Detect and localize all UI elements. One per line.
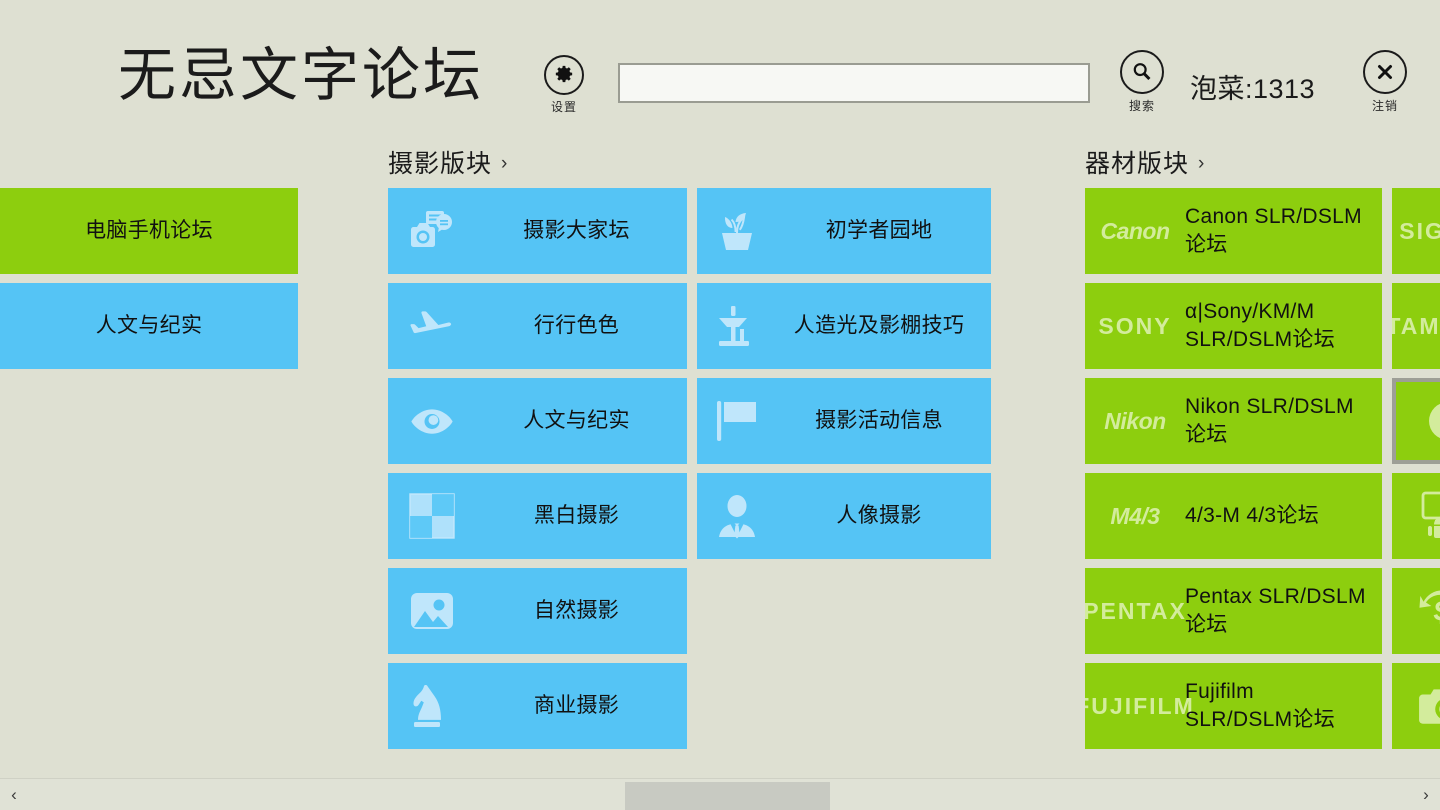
column-photography-b: 初学者园地人造光及影棚技巧摄影活动信息人像摄影 <box>697 140 991 568</box>
tile-label: Pentax SLR/DSLM论坛 <box>1185 583 1382 639</box>
tile-label: 摄影大家坛 <box>476 217 687 245</box>
search-label: 搜索 <box>1105 99 1179 113</box>
tile-list-gear-b: SIGMATAMRON <box>1392 188 1440 749</box>
canon-wordmark: Canon <box>1085 218 1185 245</box>
airplane-icon <box>388 303 476 349</box>
column-photography-heading[interactable]: 摄影版块 › <box>388 140 687 188</box>
four-thirds-wordmark: M4/3 <box>1085 503 1185 530</box>
column-gear-heading-label: 器材版块 <box>1085 149 1189 179</box>
sony-wordmark: SONY <box>1085 313 1185 340</box>
tile-left-1[interactable]: 人文与纪实 <box>0 283 298 369</box>
camera-chat-icon <box>388 207 476 255</box>
tile-gear-a-4[interactable]: PENTAXPentax SLR/DSLM论坛 <box>1085 568 1382 654</box>
tile-gear-a-0[interactable]: CanonCanon SLR/DSLM论坛 <box>1085 188 1382 274</box>
tile-label: 人文与纪实 <box>476 407 687 435</box>
tile-label: 行行色色 <box>476 312 687 340</box>
app-root: 无忌文字论坛 设置 搜索 泡菜:1313 <box>0 0 1440 810</box>
settings-label: 设置 <box>527 100 601 114</box>
tile-gear-b-3[interactable] <box>1392 473 1440 559</box>
tile-gear-b-1[interactable]: TAMRON <box>1392 283 1440 369</box>
fujifilm-wordmark: FUJIFILM <box>1085 693 1185 720</box>
tile-label: 商业摄影 <box>476 692 687 720</box>
camera-icon <box>1392 681 1440 731</box>
tile-photo-b-3[interactable]: 人像摄影 <box>697 473 991 559</box>
tile-gear-a-5[interactable]: FUJIFILMFujifilm SLR/DSLM论坛 <box>1085 663 1382 749</box>
potted-plant-icon <box>697 207 777 255</box>
pentax-wordmark: PENTAX <box>1085 598 1187 625</box>
tile-gear-a-1[interactable]: SONYα|Sony/KM/M SLR/DSLM论坛 <box>1085 283 1382 369</box>
sigma-wordmark: SIGMA <box>1392 218 1440 245</box>
chevron-right-icon: › <box>1198 149 1205 179</box>
fujifilm-wordmark: FUJIFILM <box>1085 693 1195 720</box>
scroll-left-arrow[interactable]: ‹ <box>0 785 28 805</box>
pentax-wordmark: PENTAX <box>1085 598 1185 625</box>
nikon-wordmark: Nikon <box>1085 408 1185 435</box>
tile-gear-b-4[interactable] <box>1392 568 1440 654</box>
tile-photo-a-1[interactable]: 行行色色 <box>388 283 687 369</box>
column-gear-b: SIGMATAMRON <box>1392 140 1440 758</box>
close-x-icon <box>1363 50 1407 94</box>
tile-label: 人造光及影棚技巧 <box>777 312 991 340</box>
logout-button[interactable]: 注销 <box>1348 50 1422 113</box>
chess-knight-icon <box>388 682 476 730</box>
column-gear-a: 器材版块 › CanonCanon SLR/DSLM论坛SONYα|Sony/K… <box>1085 140 1382 758</box>
sony-wordmark: SONY <box>1098 313 1171 340</box>
tile-label: α|Sony/KM/M SLR/DSLM论坛 <box>1185 298 1382 354</box>
tile-gear-a-2[interactable]: NikonNikon SLR/DSLM论坛 <box>1085 378 1382 464</box>
tile-list-left: 电脑手机论坛人文与纪实 <box>0 188 298 369</box>
search-button[interactable]: 搜索 <box>1105 50 1179 113</box>
nikon-wordmark: Nikon <box>1104 408 1165 435</box>
tile-left-0[interactable]: 电脑手机论坛 <box>0 188 298 274</box>
tile-gear-a-3[interactable]: M4/34/3-M 4/3论坛 <box>1085 473 1382 559</box>
tile-label: 黑白摄影 <box>476 502 687 530</box>
scroll-right-arrow[interactable]: › <box>1412 785 1440 805</box>
tile-photo-a-0[interactable]: 摄影大家坛 <box>388 188 687 274</box>
tile-label: 4/3-M 4/3论坛 <box>1185 502 1382 530</box>
sigma-wordmark: SIGMA <box>1399 218 1440 245</box>
column-photography-a: 摄影版块 › 摄影大家坛行行色色人文与纪实黑白摄影自然摄影商业摄影 <box>388 140 687 758</box>
tile-label: 自然摄影 <box>476 597 687 625</box>
tile-label: 人像摄影 <box>777 502 991 530</box>
tile-photo-a-2[interactable]: 人文与纪实 <box>388 378 687 464</box>
tamron-wordmark: TAMRON <box>1392 313 1440 340</box>
logout-label: 注销 <box>1348 99 1422 113</box>
music-disc-icon <box>1392 397 1440 445</box>
tile-label: 初学者园地 <box>777 217 991 245</box>
page-title: 无忌文字论坛 <box>118 42 484 110</box>
scrollbar-thumb[interactable] <box>625 782 830 810</box>
chevron-right-icon: › <box>501 149 508 179</box>
scrollbar-track[interactable] <box>28 779 1412 810</box>
column-photography-heading-label: 摄影版块 <box>388 149 492 179</box>
tile-gear-b-2[interactable] <box>1392 378 1440 464</box>
person-portrait-icon <box>697 492 777 540</box>
tamron-wordmark: TAMRON <box>1392 313 1440 340</box>
tile-label: Nikon SLR/DSLM论坛 <box>1185 393 1382 449</box>
tile-photo-b-1[interactable]: 人造光及影棚技巧 <box>697 283 991 369</box>
board-columns: 电脑手机论坛人文与纪实 摄影版块 › 摄影大家坛行行色色人文与纪实黑白摄影自然摄… <box>0 140 1440 780</box>
landscape-photo-icon <box>388 587 476 635</box>
tile-list-photography-b: 初学者园地人造光及影棚技巧摄影活动信息人像摄影 <box>697 188 991 559</box>
tile-list-photography-a: 摄影大家坛行行色色人文与纪实黑白摄影自然摄影商业摄影 <box>388 188 687 749</box>
tv-apple-android-icon <box>0 206 10 256</box>
header: 无忌文字论坛 设置 搜索 泡菜:1313 <box>0 0 1440 140</box>
eye-icon <box>388 399 476 444</box>
tile-label: 摄影活动信息 <box>777 407 991 435</box>
tile-gear-b-0[interactable]: SIGMA <box>1392 188 1440 274</box>
tile-label: Fujifilm SLR/DSLM论坛 <box>1185 678 1382 734</box>
eye-icon <box>0 304 10 349</box>
tile-label: 人文与纪实 <box>10 312 298 340</box>
dollar-refresh-icon <box>1392 585 1440 637</box>
tile-photo-a-4[interactable]: 自然摄影 <box>388 568 687 654</box>
search-input[interactable] <box>618 63 1090 103</box>
tile-label: Canon SLR/DSLM论坛 <box>1185 203 1382 259</box>
tile-photo-b-2[interactable]: 摄影活动信息 <box>697 378 991 464</box>
tile-gear-b-5[interactable] <box>1392 663 1440 749</box>
tv-android-icon <box>1392 490 1440 542</box>
column-left: 电脑手机论坛人文与纪实 <box>0 140 298 378</box>
tile-label: 电脑手机论坛 <box>10 217 298 245</box>
microscope-icon <box>697 302 777 350</box>
user-name: 泡菜:1313 <box>1190 67 1315 106</box>
search-icon <box>1120 50 1164 94</box>
gear-icon <box>544 55 584 95</box>
column-gear-heading[interactable]: 器材版块 › <box>1085 140 1382 188</box>
horizontal-scrollbar[interactable]: ‹ › <box>0 778 1440 810</box>
tile-list-gear-a: CanonCanon SLR/DSLM论坛SONYα|Sony/KM/M SLR… <box>1085 188 1382 749</box>
tile-photo-b-0[interactable]: 初学者园地 <box>697 188 991 274</box>
tile-photo-a-3[interactable]: 黑白摄影 <box>388 473 687 559</box>
flag-icon <box>697 397 777 445</box>
four-thirds-wordmark: M4/3 <box>1110 503 1159 530</box>
checkerboard-icon <box>388 491 476 541</box>
settings-button[interactable]: 设置 <box>527 55 601 114</box>
tile-photo-a-5[interactable]: 商业摄影 <box>388 663 687 749</box>
canon-wordmark: Canon <box>1100 218 1169 245</box>
